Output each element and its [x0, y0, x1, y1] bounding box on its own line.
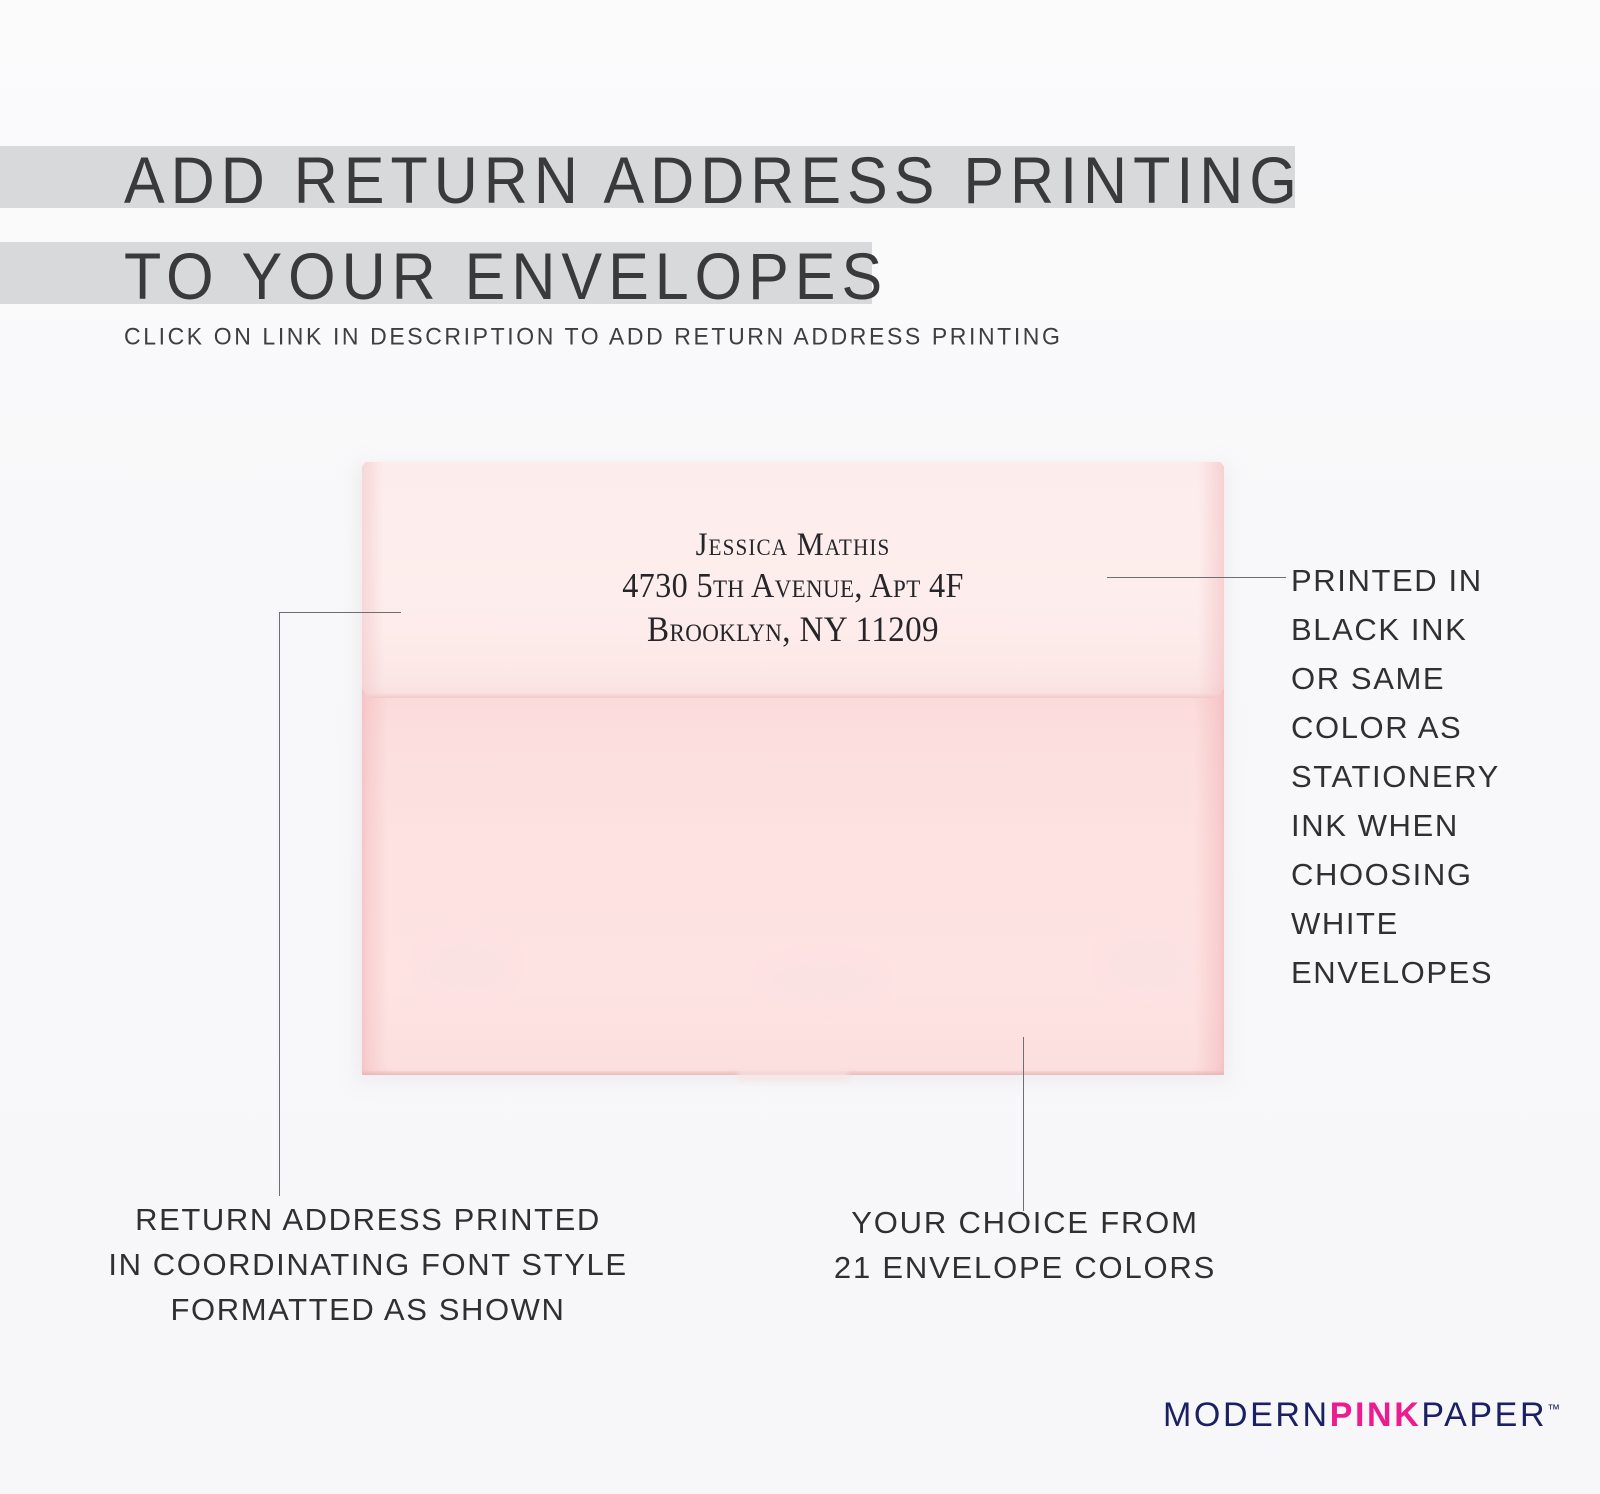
envelope-body — [362, 687, 1224, 1075]
annotation-right-line-1: PRINTED IN — [1291, 556, 1591, 605]
annotation-right-line-4: COLOR AS — [1291, 703, 1591, 752]
logo-word-modern: MODERN — [1163, 1396, 1330, 1434]
annotation-right-line-2: BLACK INK — [1291, 605, 1591, 654]
annotation-right-line-3: OR SAME — [1291, 654, 1591, 703]
return-address-block: Jessica Mathis 4730 5th Avenue, Apt 4F B… — [362, 525, 1224, 652]
annotation-bottom-left-line-3: FORMATTED AS SHOWN — [58, 1287, 678, 1332]
envelope-body-right-shade — [1194, 687, 1224, 1075]
annotation-ink-color: PRINTED IN BLACK INK OR SAME COLOR AS ST… — [1291, 556, 1591, 997]
leader-line-left-horizontal — [279, 612, 401, 613]
annotation-right-line-8: WHITE — [1291, 899, 1591, 948]
title-line-1: ADD RETURN ADDRESS PRINTING — [124, 138, 1303, 222]
envelope-mockup: Jessica Mathis 4730 5th Avenue, Apt 4F B… — [350, 455, 1230, 1083]
annotation-bottom-left-line-1: RETURN ADDRESS PRINTED — [58, 1197, 678, 1242]
envelope-flap: Jessica Mathis 4730 5th Avenue, Apt 4F B… — [362, 462, 1224, 698]
leader-line-right-horizontal — [1107, 577, 1286, 578]
annotation-bottom-left-line-2: IN COORDINATING FONT STYLE — [58, 1242, 678, 1287]
paper-texture-2 — [762, 957, 882, 1007]
page-title: ADD RETURN ADDRESS PRINTING TO YOUR ENVE… — [0, 138, 1340, 322]
brand-logo: MODERNPINKPAPER™ — [1163, 1396, 1560, 1435]
logo-word-pink: PINK — [1330, 1396, 1422, 1434]
annotation-return-address-style: RETURN ADDRESS PRINTED IN COORDINATING F… — [58, 1197, 678, 1332]
annotation-envelope-colors: YOUR CHOICE FROM 21 ENVELOPE COLORS — [790, 1200, 1260, 1290]
title-line-2-wrap: TO YOUR ENVELOPES — [0, 234, 1340, 322]
leader-line-middle-vertical — [1023, 1037, 1024, 1211]
return-address-line-1: Jessica Mathis — [396, 525, 1189, 565]
annotation-right-line-9: ENVELOPES — [1291, 948, 1591, 997]
leader-line-left-vertical — [279, 612, 280, 1196]
paper-texture-3 — [1102, 932, 1192, 997]
return-address-line-2: 4730 5th Avenue, Apt 4F — [396, 565, 1189, 608]
title-line-1-wrap: ADD RETURN ADDRESS PRINTING — [0, 138, 1340, 226]
page-canvas: ADD RETURN ADDRESS PRINTING TO YOUR ENVE… — [0, 0, 1600, 1494]
envelope-flap-edge — [362, 693, 1224, 698]
annotation-bottom-middle-line-2: 21 ENVELOPE COLORS — [790, 1245, 1260, 1290]
envelope-body-left-shade — [362, 687, 388, 1075]
annotation-right-line-6: INK WHEN — [1291, 801, 1591, 850]
paper-texture-1 — [422, 937, 512, 997]
envelope-bottom-seam — [738, 1071, 848, 1081]
logo-word-paper: PAPER — [1421, 1396, 1547, 1434]
annotation-right-line-5: STATIONERY — [1291, 752, 1591, 801]
annotation-right-line-7: CHOOSING — [1291, 850, 1591, 899]
trademark-icon: ™ — [1547, 1402, 1560, 1417]
annotation-bottom-middle-line-1: YOUR CHOICE FROM — [790, 1200, 1260, 1245]
title-line-2: TO YOUR ENVELOPES — [124, 234, 888, 318]
page-subtitle: CLICK ON LINK IN DESCRIPTION TO ADD RETU… — [124, 322, 1063, 351]
return-address-line-3: Brooklyn, NY 11209 — [396, 608, 1189, 652]
